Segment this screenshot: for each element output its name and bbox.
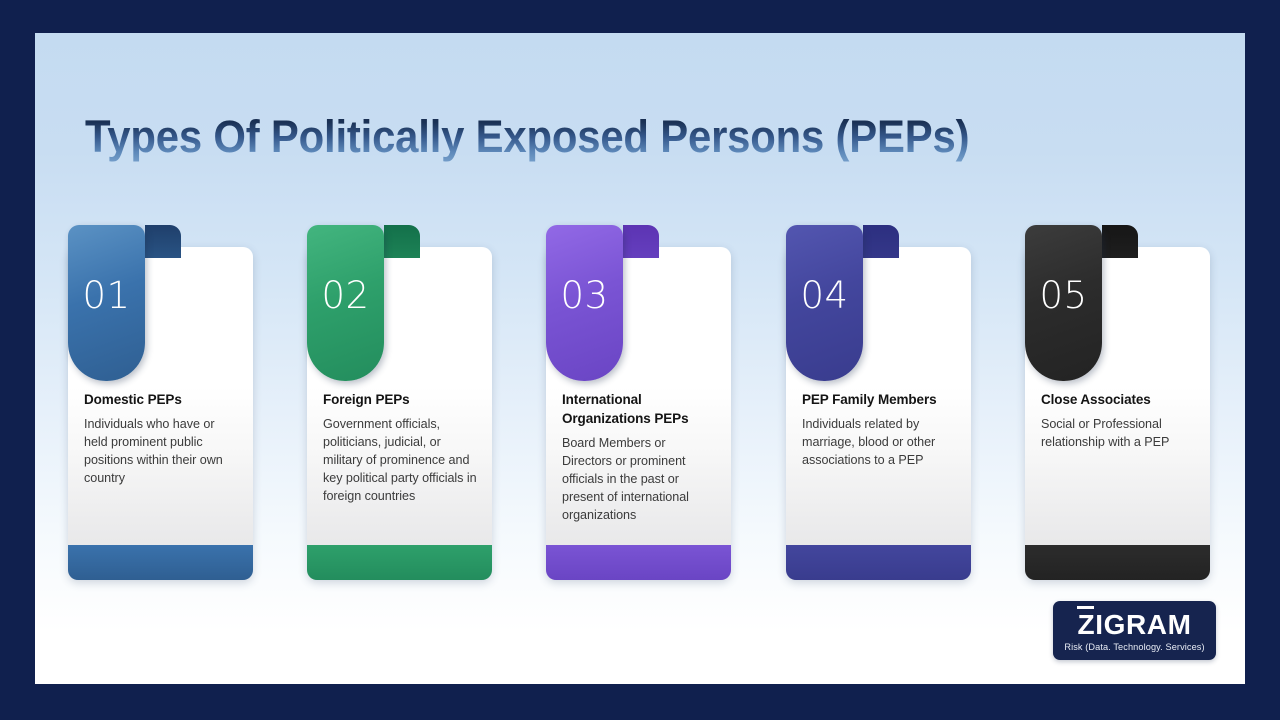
ribbon-fold-icon	[863, 225, 899, 258]
card-title: International Organizations PEPs	[562, 390, 718, 428]
card-number: 05	[1025, 274, 1102, 317]
card-number: 04	[786, 274, 863, 317]
card-footer-bar	[1025, 545, 1210, 580]
card-text-block: Close Associates Social or Professional …	[1041, 390, 1197, 452]
ribbon-badge: 01	[68, 225, 145, 381]
card-title: Foreign PEPs	[323, 390, 479, 409]
card-text-block: PEP Family Members Individuals related b…	[802, 390, 958, 470]
logo-tagline: Risk (Data. Technology. Services)	[1053, 642, 1216, 652]
ribbon-badge: 04	[786, 225, 863, 381]
card-footer-bar	[786, 545, 971, 580]
card-title: PEP Family Members	[802, 390, 958, 409]
card-description: Individuals who have or held prominent p…	[84, 416, 240, 488]
card-number: 03	[546, 274, 623, 317]
card-01[interactable]: Domestic PEPs Individuals who have or he…	[68, 225, 253, 580]
card-description: Board Members or Directors or prominent …	[562, 435, 718, 524]
card-description: Government officials, politicians, judic…	[323, 416, 479, 505]
logo-wordmark: ZIGRAM	[1053, 609, 1216, 641]
card-title: Domestic PEPs	[84, 390, 240, 409]
card-05[interactable]: Close Associates Social or Professional …	[1025, 225, 1210, 580]
card-text-block: Foreign PEPs Government officials, polit…	[323, 390, 479, 506]
card-footer-bar	[546, 545, 731, 580]
ribbon-fold-icon	[1102, 225, 1138, 258]
card-02[interactable]: Foreign PEPs Government officials, polit…	[307, 225, 492, 580]
card-text-block: International Organizations PEPs Board M…	[562, 390, 718, 525]
logo-letter-z: Z	[1077, 609, 1095, 640]
card-description: Social or Professional relationship with…	[1041, 416, 1197, 452]
card-footer-bar	[307, 545, 492, 580]
logo-letters-rest: IGRAM	[1095, 609, 1191, 640]
ribbon-fold-icon	[384, 225, 420, 258]
slide-canvas: Types Of Politically Exposed Persons (PE…	[35, 33, 1245, 684]
zigram-logo[interactable]: ZIGRAM Risk (Data. Technology. Services)	[1053, 601, 1216, 660]
ribbon-badge: 03	[546, 225, 623, 381]
card-number: 01	[68, 274, 145, 317]
card-text-block: Domestic PEPs Individuals who have or he…	[84, 390, 240, 488]
card-description: Individuals related by marriage, blood o…	[802, 416, 958, 470]
ribbon-fold-icon	[623, 225, 659, 258]
card-04[interactable]: PEP Family Members Individuals related b…	[786, 225, 971, 580]
ribbon-badge: 02	[307, 225, 384, 381]
card-title: Close Associates	[1041, 390, 1197, 409]
ribbon-badge: 05	[1025, 225, 1102, 381]
ribbon-fold-icon	[145, 225, 181, 258]
card-03[interactable]: International Organizations PEPs Board M…	[546, 225, 731, 580]
cards-row: Domestic PEPs Individuals who have or he…	[35, 33, 1245, 684]
card-number: 02	[307, 274, 384, 317]
card-footer-bar	[68, 545, 253, 580]
